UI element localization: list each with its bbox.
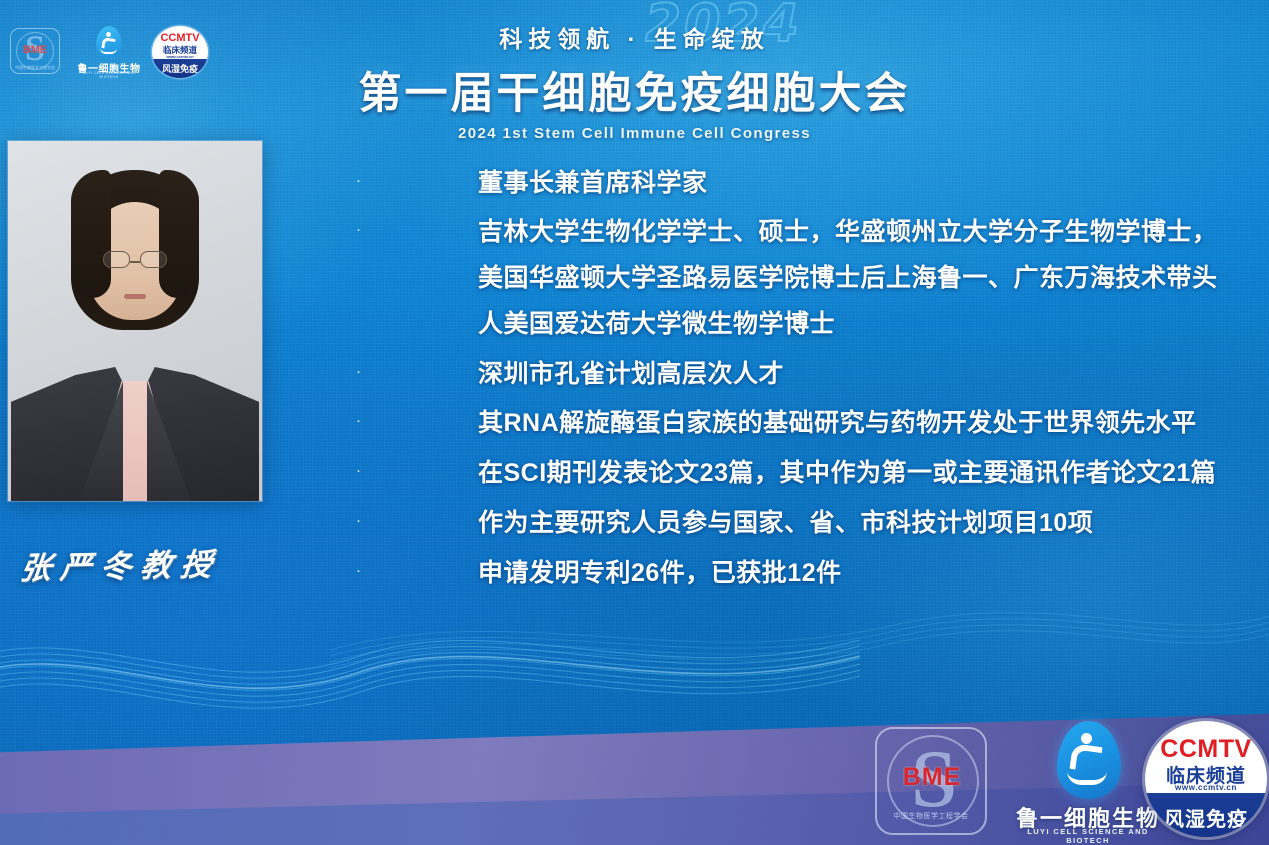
slide-title-english: 2024 1st Stem Cell Immune Cell Congress xyxy=(0,125,1269,142)
portrait-mouth xyxy=(124,294,146,299)
presentation-slide: 2024 S BME 中国生物医学工程学会 鲁一细胞生物 LUYI CELL S… xyxy=(0,0,1269,845)
bullet-marker: · xyxy=(356,351,478,379)
bullet-content: 其RNA解旋酶蛋白家族的基础研究与药物开发处于世界领先水平 xyxy=(478,400,1236,446)
ccmtv-section-cn: 风湿免疫 xyxy=(1145,803,1267,832)
bullet-line: 在SCI期刊发表论文23篇，其中作为第一或主要通讯作者论文21篇 xyxy=(478,450,1236,496)
bme-wordmark: BME xyxy=(877,763,987,792)
bullet-marker: · xyxy=(356,400,478,428)
ccmtv-wordmark: CCMTV xyxy=(1145,735,1267,764)
bullet-marker: · xyxy=(356,450,478,478)
bullet-line: 美国华盛顿大学圣路易医学院博士后上海鲁一、广东万海技术带头 xyxy=(478,255,1236,301)
speaker-name-caption: 张严冬教授 xyxy=(17,537,314,605)
portrait-hair-front-left xyxy=(71,170,111,298)
slide-title: 第一届干细胞免疫细胞大会 xyxy=(0,59,1269,121)
bullet-marker: · xyxy=(356,500,478,528)
bullet-content: 深圳市孔雀计划高层次人才 xyxy=(478,351,1236,397)
ccmtv-logo-icon-large: CCMTV 临床频道 www.ccmtv.cn 风湿免疫 xyxy=(1145,721,1267,837)
bullet-line: 董事长兼首席科学家 xyxy=(478,160,1236,206)
bullet-line: 其RNA解旋酶蛋白家族的基础研究与药物开发处于世界领先水平 xyxy=(478,400,1236,446)
bullet-content: 吉林大学生物化学学士、硕士，华盛顿州立大学分子生物学博士， 美国华盛顿大学圣路易… xyxy=(478,209,1236,347)
bullet-content: 董事长兼首席科学家 xyxy=(478,160,1236,206)
speaker-photo xyxy=(8,141,262,501)
bme-logo-icon-large: S BME 中国生物医学工程学会 xyxy=(857,723,1005,841)
portrait-glasses-bridge xyxy=(130,261,140,263)
bullet-marker: · xyxy=(356,209,478,237)
portrait-hair-front-right xyxy=(159,170,199,298)
list-item: · 深圳市孔雀计划高层次人才 xyxy=(356,351,1236,397)
list-item: · 吉林大学生物化学学士、硕士，华盛顿州立大学分子生物学博士， 美国华盛顿大学圣… xyxy=(356,209,1236,347)
luyi-figure-head xyxy=(1081,733,1092,744)
luyi-figure-body xyxy=(1069,743,1102,773)
list-item: · 董事长兼首席科学家 xyxy=(356,160,1236,206)
bullet-content: 申请发明专利26件，已获批12件 xyxy=(478,550,1236,596)
portrait-glasses-left xyxy=(103,251,130,268)
bullet-content: 作为主要研究人员参与国家、省、市科技计划项目10项 xyxy=(478,500,1236,546)
bullet-line: 吉林大学生物化学学士、硕士，华盛顿州立大学分子生物学博士， xyxy=(478,209,1236,255)
ccmtv-website: www.ccmtv.cn xyxy=(1145,783,1267,792)
wave-ribbon-decoration xyxy=(0,600,860,750)
list-item: · 申请发明专利26件，已获批12件 xyxy=(356,550,1236,596)
bullet-line: 人美国爱达荷大学微生物学博士 xyxy=(478,301,1236,347)
portrait-frame xyxy=(8,141,262,501)
slide-header: 2024 S BME 中国生物医学工程学会 鲁一细胞生物 LUYI CELL S… xyxy=(0,0,1269,128)
luyi-wordmark-en: LUYI CELL SCIENCE AND BIOTECH xyxy=(1013,827,1163,845)
portrait-glasses-right xyxy=(140,251,167,268)
bullet-marker: · xyxy=(356,160,478,188)
luyi-logo-icon-large: 鲁一细胞生物 LUYI CELL SCIENCE AND BIOTECH xyxy=(1013,719,1163,843)
bme-arc-text: 中国生物医学工程学会 xyxy=(873,811,989,821)
bullet-line: 申请发明专利26件，已获批12件 xyxy=(478,550,1236,596)
footer-logo-group: S BME 中国生物医学工程学会 鲁一细胞生物 LUYI CELL SCIENC… xyxy=(845,715,1269,843)
list-item: · 作为主要研究人员参与国家、省、市科技计划项目10项 xyxy=(356,500,1236,546)
speaker-bio-list: · 董事长兼首席科学家 · 吉林大学生物化学学士、硕士，华盛顿州立大学分子生物学… xyxy=(356,160,1236,596)
bullet-line: 深圳市孔雀计划高层次人才 xyxy=(478,351,1236,397)
bullet-content: 在SCI期刊发表论文23篇，其中作为第一或主要通讯作者论文21篇 xyxy=(478,450,1236,496)
bullet-marker: · xyxy=(356,550,478,578)
title-block: 科技领航 · 生命绽放 第一届干细胞免疫细胞大会 2024 1st Stem C… xyxy=(0,20,1269,142)
list-item: · 其RNA解旋酶蛋白家族的基础研究与药物开发处于世界领先水平 xyxy=(356,400,1236,446)
bullet-line: 作为主要研究人员参与国家、省、市科技计划项目10项 xyxy=(478,500,1236,546)
slide-subtitle-top: 科技领航 · 生命绽放 xyxy=(0,20,1269,54)
list-item: · 在SCI期刊发表论文23篇，其中作为第一或主要通讯作者论文21篇 xyxy=(356,450,1236,496)
